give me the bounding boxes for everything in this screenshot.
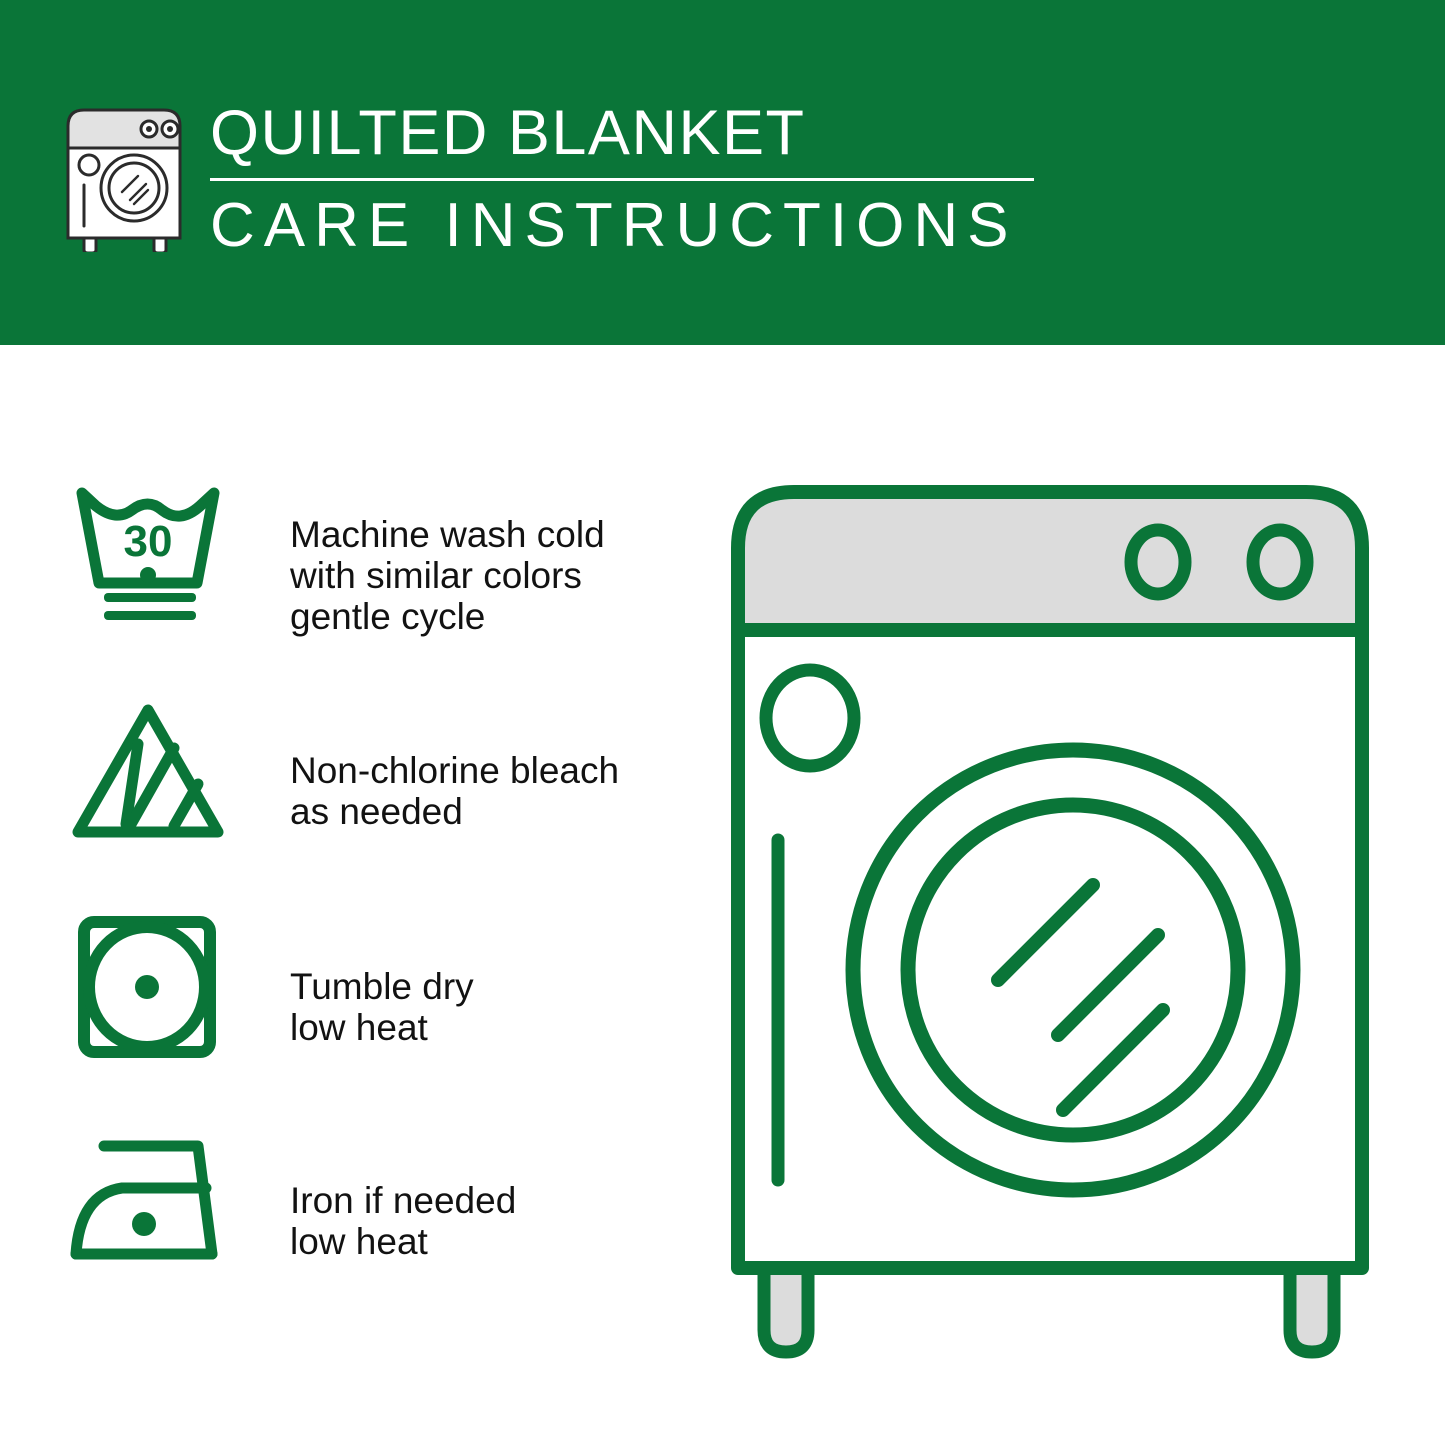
tumble-dry-icon — [70, 912, 240, 1062]
header-titles: QUILTED BLANKET CARE INSTRUCTIONS — [210, 98, 1310, 259]
title-divider — [210, 178, 1034, 181]
header-band: QUILTED BLANKET CARE INSTRUCTIONS — [0, 0, 1445, 345]
care-instruction-list: 30 Machine wash cold with similar colors… — [62, 480, 682, 1344]
care-text-iron: Iron if needed low heat — [290, 1180, 710, 1262]
care-row-bleach: Non-chlorine bleach as needed — [62, 696, 682, 912]
care-text-wash: Machine wash cold with similar colors ge… — [290, 514, 710, 637]
care-row-tumble-dry: Tumble dry low heat — [62, 912, 682, 1128]
wash-tub-30-icon: 30 — [70, 480, 240, 630]
page-title: QUILTED BLANKET — [210, 98, 1310, 168]
washing-machine-illustration — [718, 470, 1398, 1370]
care-instructions-page: QUILTED BLANKET CARE INSTRUCTIONS 30 — [0, 0, 1445, 1445]
care-row-wash: 30 Machine wash cold with similar colors… — [62, 480, 682, 696]
care-text-bleach: Non-chlorine bleach as needed — [290, 750, 710, 832]
svg-text:30: 30 — [124, 517, 173, 566]
header-content: QUILTED BLANKET CARE INSTRUCTIONS — [62, 98, 1382, 258]
iron-icon — [70, 1128, 240, 1278]
bleach-triangle-icon — [70, 696, 240, 846]
washing-machine-icon — [62, 104, 188, 252]
care-row-iron: Iron if needed low heat — [62, 1128, 682, 1344]
care-text-tumble-dry: Tumble dry low heat — [290, 966, 710, 1048]
page-subtitle: CARE INSTRUCTIONS — [210, 193, 1310, 259]
